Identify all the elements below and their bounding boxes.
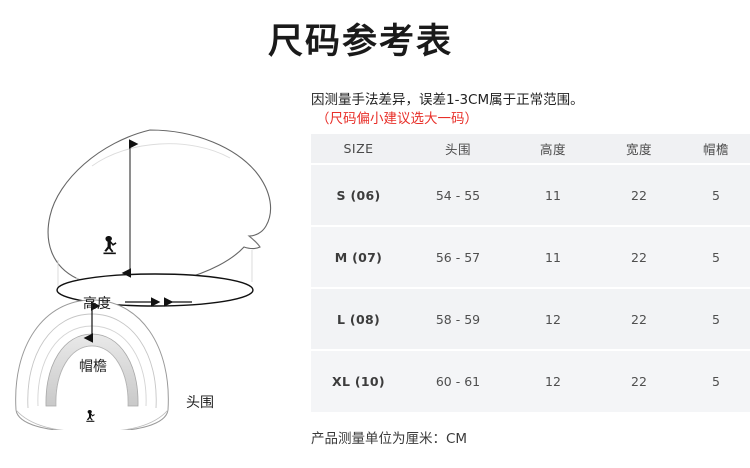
cell-brim: 5	[682, 288, 750, 350]
cell-width: 22	[596, 288, 682, 350]
cell-brim: 5	[682, 226, 750, 288]
brim-label: 帽檐	[79, 356, 107, 376]
cell-size: XL (10)	[311, 350, 406, 412]
height-label: 高度	[83, 293, 111, 313]
cell-head: 56 - 57	[406, 226, 510, 288]
hat-diagram-svg	[0, 110, 300, 430]
page-title: 尺码参考表	[268, 20, 688, 64]
cell-size: S (06)	[311, 164, 406, 226]
cell-height: 11	[510, 226, 596, 288]
cell-head: 60 - 61	[406, 350, 510, 412]
cell-height: 12	[510, 288, 596, 350]
column-header-height: 高度	[510, 134, 596, 164]
size-chart-page: 尺码参考表 因测量手法差异，误差1-3CM属于正常范围。 （尺码偏小建议选大一码…	[0, 0, 750, 468]
cell-brim: 5	[682, 164, 750, 226]
column-header-width: 宽度	[596, 134, 682, 164]
table-row: XL (10) 60 - 61 12 22 5	[311, 350, 750, 412]
cell-size: L (08)	[311, 288, 406, 350]
size-up-recommendation-note: （尺码偏小建议选大一码）	[316, 110, 478, 128]
cell-width: 22	[596, 226, 682, 288]
cell-head: 54 - 55	[406, 164, 510, 226]
table-row: L (08) 58 - 59 12 22 5	[311, 288, 750, 350]
cell-width: 22	[596, 350, 682, 412]
cell-height: 11	[510, 164, 596, 226]
head-circumference-label: 头围	[186, 392, 214, 412]
column-header-head: 头围	[406, 134, 510, 164]
measurement-unit-note: 产品测量单位为厘米：CM	[311, 427, 467, 447]
cell-width: 22	[596, 164, 682, 226]
size-table-body: S (06) 54 - 55 11 22 5 M (07) 56 - 57 11…	[311, 164, 750, 412]
cell-brim: 5	[682, 350, 750, 412]
table-header-row: SIZE 头围 高度 宽度 帽檐	[311, 134, 750, 164]
hat-measurement-diagram: 高度 帽檐 头围 宽度	[0, 110, 300, 430]
size-table: SIZE 头围 高度 宽度 帽檐 S (06) 54 - 55 11 22 5 …	[311, 134, 750, 412]
flat-cap-side-illustration	[48, 130, 270, 288]
table-row: M (07) 56 - 57 11 22 5	[311, 226, 750, 288]
size-table-header: SIZE 头围 高度 宽度 帽檐	[311, 134, 750, 164]
measurement-tolerance-note: 因测量手法差异，误差1-3CM属于正常范围。	[311, 91, 584, 109]
table-row: S (06) 54 - 55 11 22 5	[311, 164, 750, 226]
column-header-size: SIZE	[311, 134, 406, 164]
column-header-brim: 帽檐	[682, 134, 750, 164]
cell-height: 12	[510, 350, 596, 412]
cell-head: 58 - 59	[406, 288, 510, 350]
cell-size: M (07)	[311, 226, 406, 288]
